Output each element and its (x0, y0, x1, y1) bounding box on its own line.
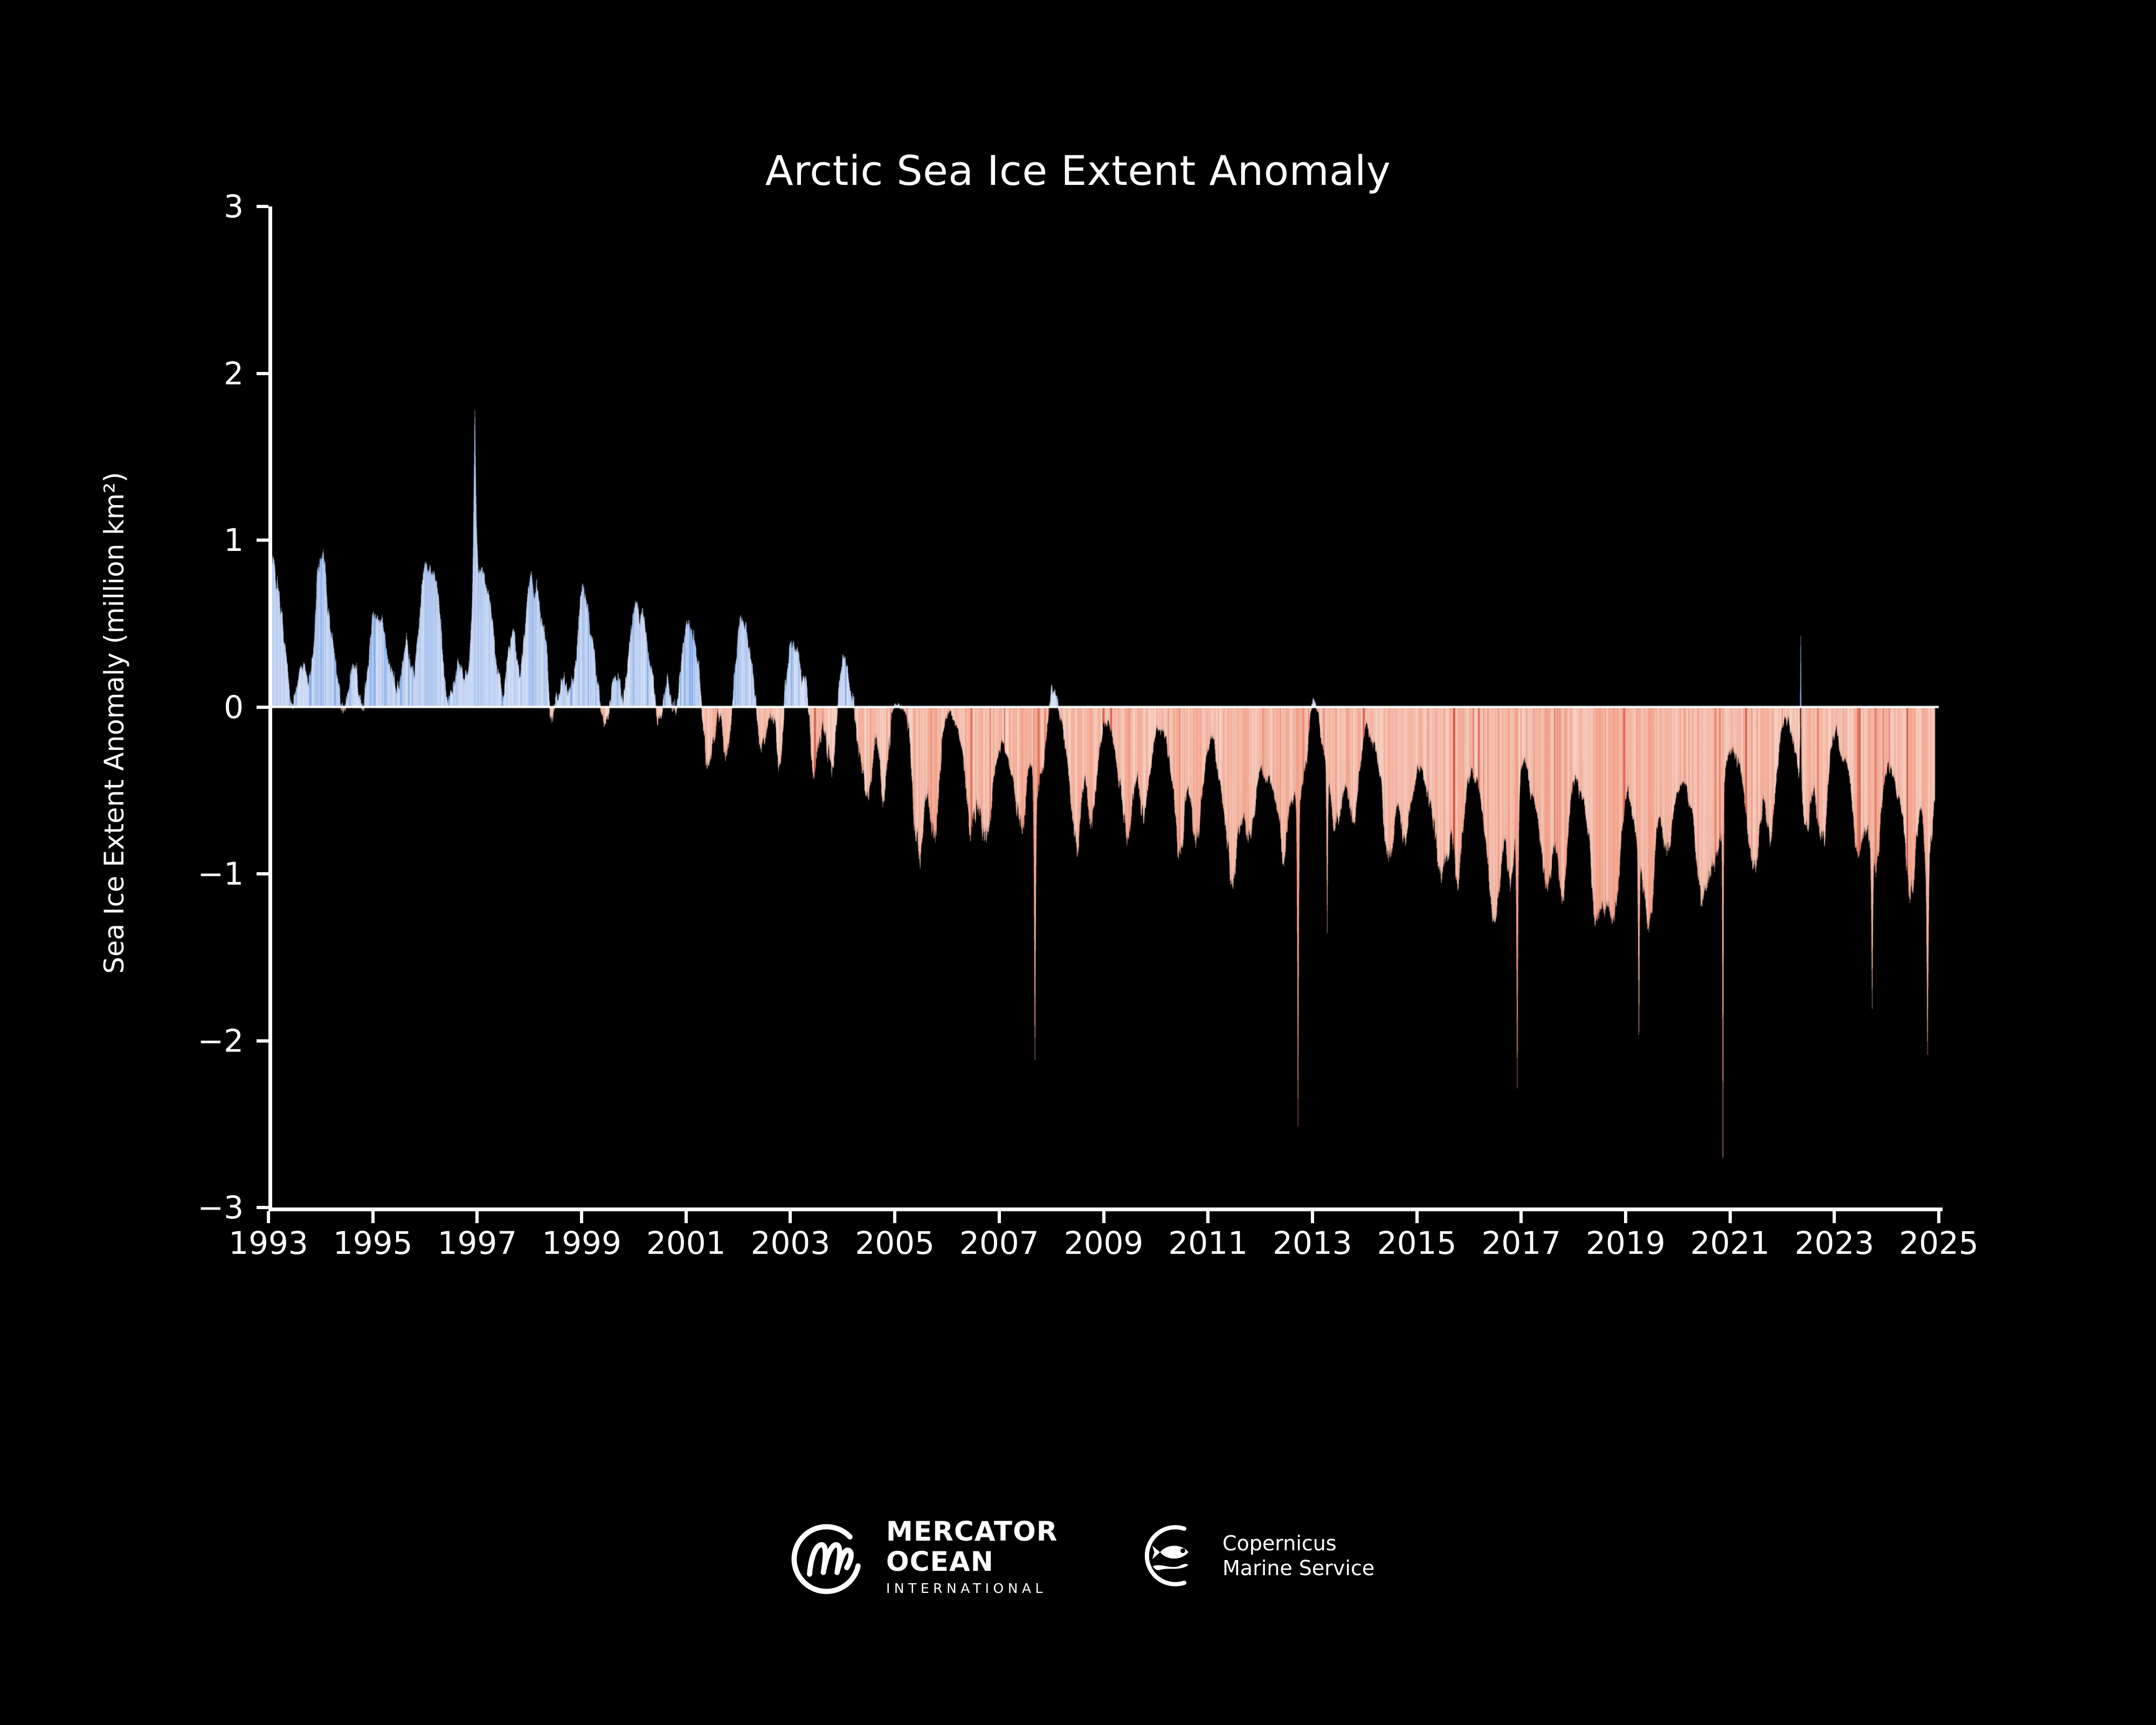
y-tick-label: −3 (97, 1189, 244, 1226)
sea-ice-anomaly-bars (268, 206, 1939, 1207)
x-tick-mark (1206, 1211, 1210, 1223)
x-tick-mark (475, 1211, 479, 1223)
x-tick-mark (267, 1211, 270, 1223)
y-tick-mark (257, 1039, 268, 1043)
y-tick-mark (257, 1206, 268, 1209)
x-tick-mark (998, 1211, 1001, 1223)
copernicus-line1: Copernicus (1222, 1531, 1374, 1556)
copernicus-line2: Marine Service (1222, 1556, 1374, 1581)
x-axis-spine (268, 1207, 1943, 1211)
y-axis-spine (268, 206, 272, 1211)
x-tick-mark (1833, 1211, 1836, 1223)
footer-logos: MERCATOR OCEAN INTERNATIONAL Copernicus … (0, 1504, 2156, 1644)
x-tick-mark (893, 1211, 896, 1223)
mercator-line2: OCEAN (886, 1548, 1058, 1575)
x-tick-mark (1311, 1211, 1314, 1223)
copernicus-wordmark: Copernicus Marine Service (1222, 1531, 1374, 1581)
page-title: Arctic Sea Ice Extent Anomaly (0, 147, 2156, 195)
y-tick-label: 3 (97, 188, 244, 225)
y-tick-mark (257, 539, 268, 542)
y-tick-mark (257, 872, 268, 875)
copernicus-marine-logo: Copernicus Marine Service (1137, 1520, 1374, 1591)
x-tick-mark (1415, 1211, 1419, 1223)
mercator-ocean-logo: MERCATOR OCEAN INTERNATIONAL (787, 1516, 1058, 1597)
x-tick-mark (1519, 1211, 1523, 1223)
x-tick-mark (1624, 1211, 1627, 1223)
x-tick-mark (580, 1211, 583, 1223)
figure-canvas: Arctic Sea Ice Extent Anomaly 3210−1−2−3… (0, 0, 2156, 1725)
mercator-m-circle-icon (787, 1516, 868, 1597)
plot-area (268, 206, 1939, 1207)
y-tick-mark (257, 706, 268, 709)
x-tick-mark (685, 1211, 688, 1223)
mercator-line1: MERCATOR (886, 1518, 1058, 1545)
y-tick-mark (257, 372, 268, 375)
y-axis-label: Sea Ice Extent Anomaly (million km²) (99, 292, 130, 1154)
x-tick-mark (1729, 1211, 1732, 1223)
y-tick-mark (257, 205, 268, 208)
mercator-line3: INTERNATIONAL (886, 1582, 1058, 1595)
x-tick-label: 2025 (1869, 1225, 2009, 1261)
x-tick-mark (1937, 1211, 1940, 1223)
x-tick-mark (789, 1211, 792, 1223)
x-tick-mark (371, 1211, 375, 1223)
mercator-wordmark: MERCATOR OCEAN INTERNATIONAL (886, 1518, 1058, 1595)
x-tick-mark (1102, 1211, 1105, 1223)
copernicus-fish-circle-icon (1137, 1520, 1208, 1591)
